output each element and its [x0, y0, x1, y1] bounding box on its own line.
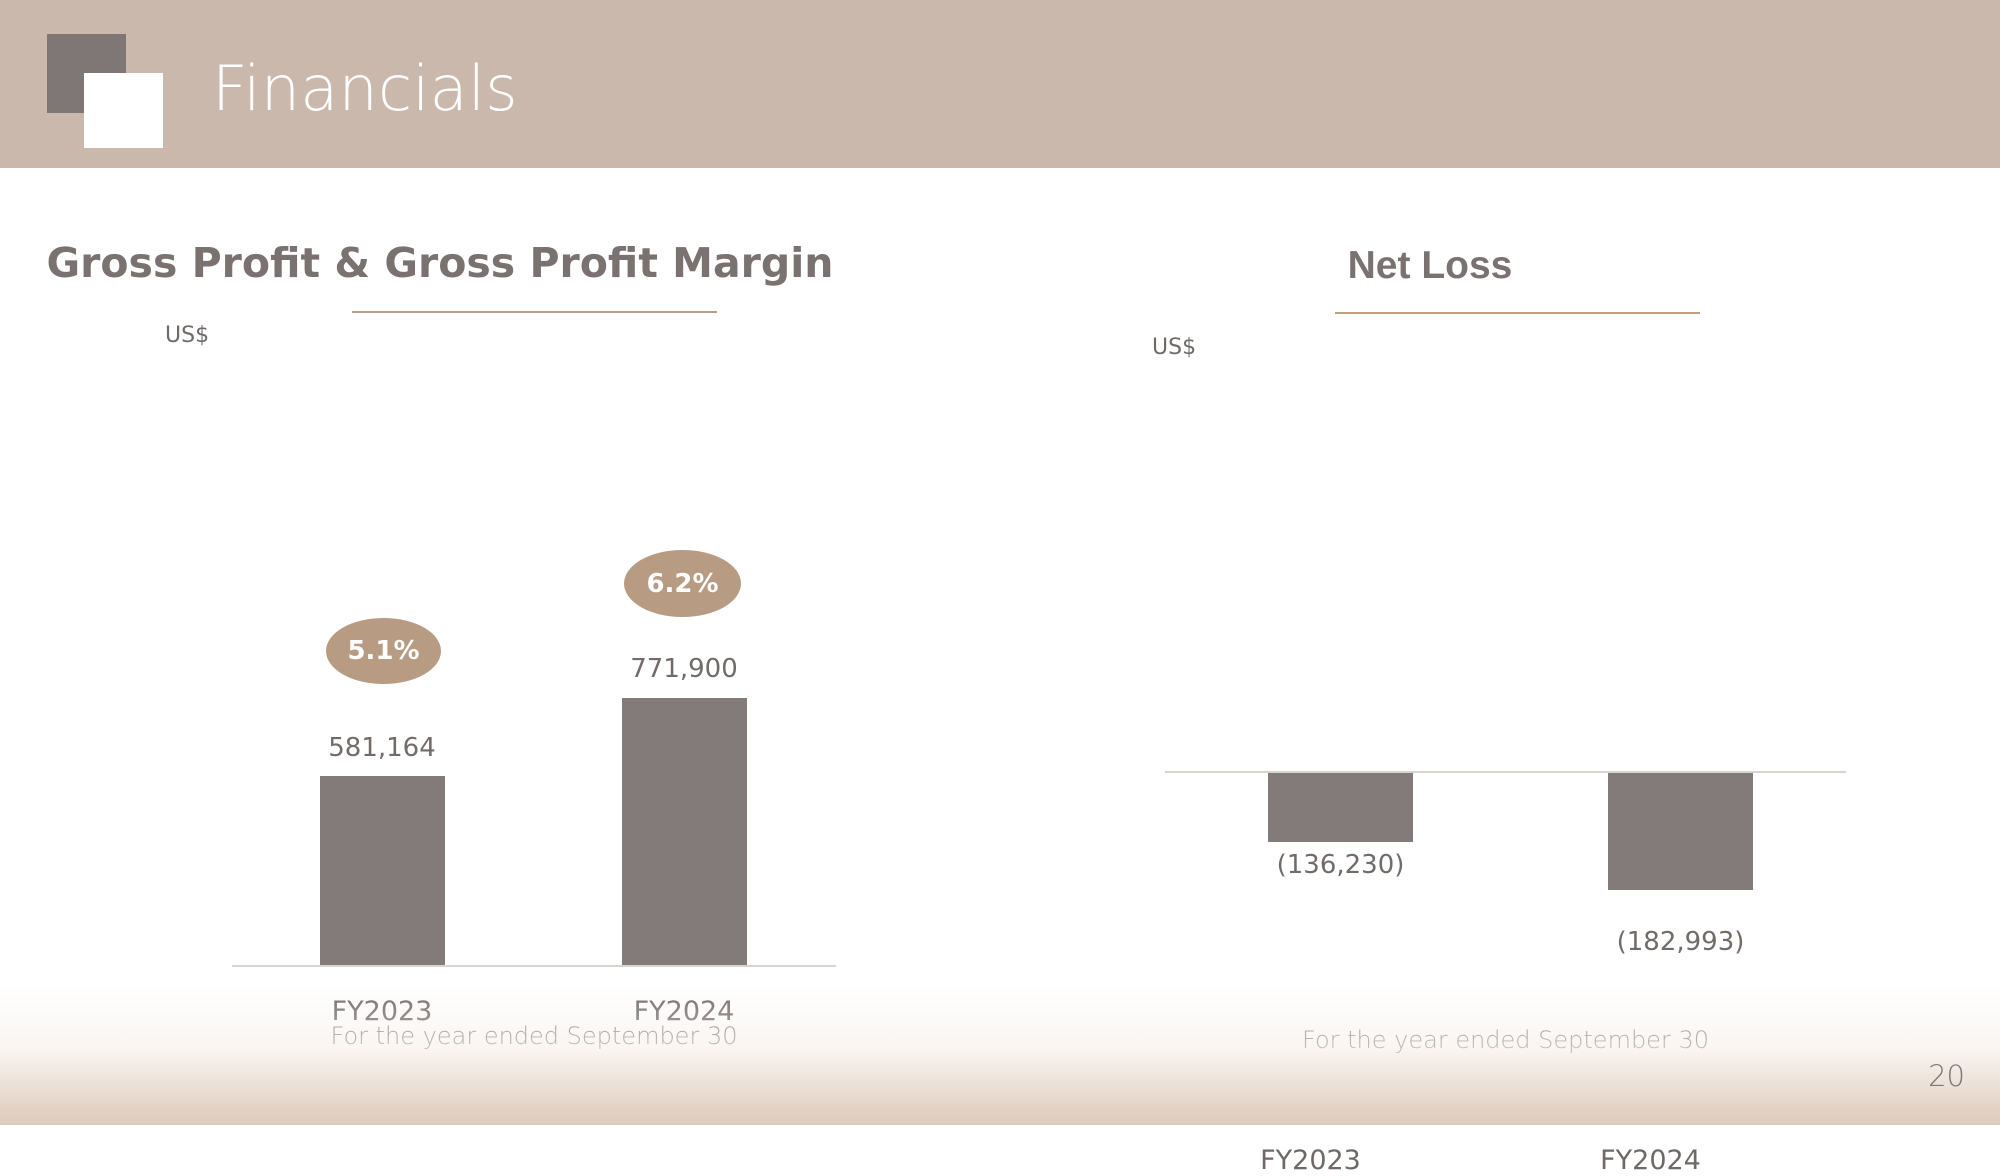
chart-footnote-net-loss: For the year ended September 30 [1165, 1026, 1846, 1054]
chart-title-underline [1335, 312, 1700, 314]
bar-value-label: 771,900 [594, 654, 774, 684]
logo-mark [0, 0, 175, 180]
x-axis-line [232, 965, 836, 967]
axis-unit-label-right: US$ [1152, 335, 1196, 360]
category-label-fy2024: FY2024 [1553, 1145, 1748, 1176]
bar-value-label: (136,230) [1243, 850, 1438, 880]
bar-fy2023-gross-profit [320, 776, 445, 965]
axis-unit-label-left: US$ [165, 323, 209, 348]
bar-fy2024-gross-profit [622, 698, 747, 965]
chart-title-gross-profit: Gross Profit & Gross Profit Margin [0, 243, 880, 284]
bar-value-label: (182,993) [1583, 927, 1778, 957]
chart-title-underline [352, 311, 717, 313]
page-title: Financials [212, 58, 518, 120]
margin-badge-fy2023: 5.1% [326, 618, 441, 684]
page-number: 20 [1928, 1059, 1965, 1093]
chart-footnote-gross-profit: For the year ended September 30 [232, 1022, 836, 1050]
chart-panel-gross-profit: Gross Profit & Gross Profit Margin US$ 5… [0, 168, 1100, 1125]
bar-value-label: 581,164 [292, 733, 472, 763]
plot-area-gross-profit: 581,164 771,900 5.1% 6.2% FY2023 FY2024 [0, 358, 900, 978]
bar-fy2023-net-loss [1268, 773, 1413, 842]
plot-area-net-loss: (136,230) (182,993) [1130, 368, 1970, 988]
slide-header-band: Financials [0, 0, 2000, 168]
chart-panel-net-loss: Net Loss US$ (136,230) (182,993) FY2023 … [1100, 168, 2000, 1125]
logo-square-white-icon [84, 73, 163, 148]
chart-title-net-loss: Net Loss [1130, 246, 1730, 285]
margin-badge-fy2024: 6.2% [624, 550, 741, 617]
category-label-fy2023: FY2023 [1213, 1145, 1408, 1176]
bar-fy2024-net-loss [1608, 773, 1753, 890]
